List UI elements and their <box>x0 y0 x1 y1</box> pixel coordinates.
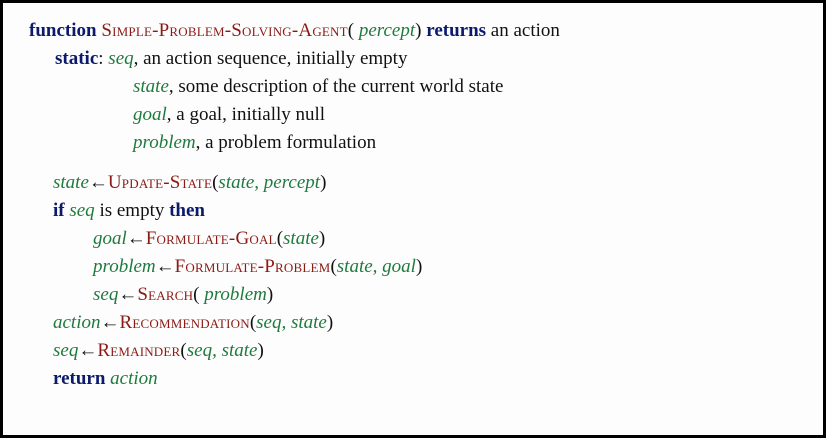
static-line-state: state, some description of the current w… <box>29 77 801 105</box>
statement-search: seq←Search( problem) <box>29 285 801 313</box>
returns-text: an action <box>491 20 560 41</box>
if-keyword: if <box>53 200 65 221</box>
args-formulate-problem: state, goal <box>337 256 416 277</box>
close-paren: ) <box>327 312 333 333</box>
args-search: problem <box>204 284 267 305</box>
statement-formulate-goal: goal←Formulate-Goal(state) <box>29 229 801 257</box>
return-keyword: return <box>53 368 105 389</box>
args-formulate-goal: state <box>283 228 319 249</box>
assign-arrow: ← <box>127 228 146 249</box>
then-keyword: then <box>169 200 205 221</box>
close-paren: ) <box>320 172 326 193</box>
procedure-remainder: Remainder <box>97 340 180 361</box>
statement-return: return action <box>29 369 801 397</box>
assign-target-state: state <box>53 172 89 193</box>
statement-if-seq-empty: if seq is empty then <box>29 201 801 229</box>
close-paren: ) <box>267 284 273 305</box>
statement-remainder: seq←Remainder(seq, state) <box>29 341 801 369</box>
assign-arrow: ← <box>78 340 97 361</box>
static-desc-problem: , a problem formulation <box>196 132 376 153</box>
algorithm-pseudocode-box: function Simple-Problem-Solving-Agent( p… <box>0 0 826 438</box>
if-condition-var: seq <box>69 200 94 221</box>
close-paren: ) <box>319 228 325 249</box>
assign-arrow: ← <box>89 172 108 193</box>
procedure-search: Search <box>137 284 193 305</box>
assign-arrow: ← <box>156 256 175 277</box>
static-colon: : <box>98 48 103 69</box>
assign-target-seq-2: seq <box>53 340 78 361</box>
signature-open-paren: ( <box>348 20 354 41</box>
assign-arrow: ← <box>118 284 137 305</box>
static-var-state: state <box>133 76 169 97</box>
close-paren: ) <box>257 340 263 361</box>
assign-target-goal: goal <box>93 228 127 249</box>
function-parameter: percept <box>359 20 415 41</box>
static-var-problem: problem <box>133 132 196 153</box>
args-remainder: seq, state <box>187 340 258 361</box>
signature-close-paren: ) <box>415 20 421 41</box>
static-desc-state: , some description of the current world … <box>169 76 504 97</box>
static-var-seq: seq <box>108 48 133 69</box>
static-line-goal: goal, a goal, initially null <box>29 105 801 133</box>
statement-formulate-problem: problem←Formulate-Problem(state, goal) <box>29 257 801 285</box>
assign-target-problem: problem <box>93 256 156 277</box>
statement-recommendation: action←Recommendation(seq, state) <box>29 313 801 341</box>
static-line-seq: static: seq, an action sequence, initial… <box>29 49 801 77</box>
static-keyword: static <box>55 48 98 69</box>
procedure-formulate-problem: Formulate-Problem <box>175 256 331 277</box>
function-signature-line: function Simple-Problem-Solving-Agent( p… <box>29 21 801 49</box>
procedure-formulate-goal: Formulate-Goal <box>146 228 277 249</box>
procedure-recommendation: Recommendation <box>120 312 250 333</box>
assign-target-action: action <box>53 312 101 333</box>
args-recommendation: seq, state <box>256 312 327 333</box>
open-paren: ( <box>193 284 199 305</box>
args-update-state: state, percept <box>218 172 320 193</box>
static-line-problem: problem, a problem formulation <box>29 133 801 161</box>
assign-arrow: ← <box>101 312 120 333</box>
static-desc-seq: , an action sequence, initially empty <box>134 48 408 69</box>
return-value: action <box>110 368 158 389</box>
close-paren: ) <box>416 256 422 277</box>
statement-update-state: state←Update-State(state, percept) <box>29 173 801 201</box>
static-desc-goal: , a goal, initially null <box>167 104 325 125</box>
returns-keyword: returns <box>426 20 486 41</box>
procedure-update-state: Update-State <box>108 172 212 193</box>
function-name: Simple-Problem-Solving-Agent <box>101 20 347 41</box>
assign-target-seq: seq <box>93 284 118 305</box>
if-condition-text: is empty <box>99 200 164 221</box>
static-var-goal: goal <box>133 104 167 125</box>
function-keyword: function <box>29 20 97 41</box>
